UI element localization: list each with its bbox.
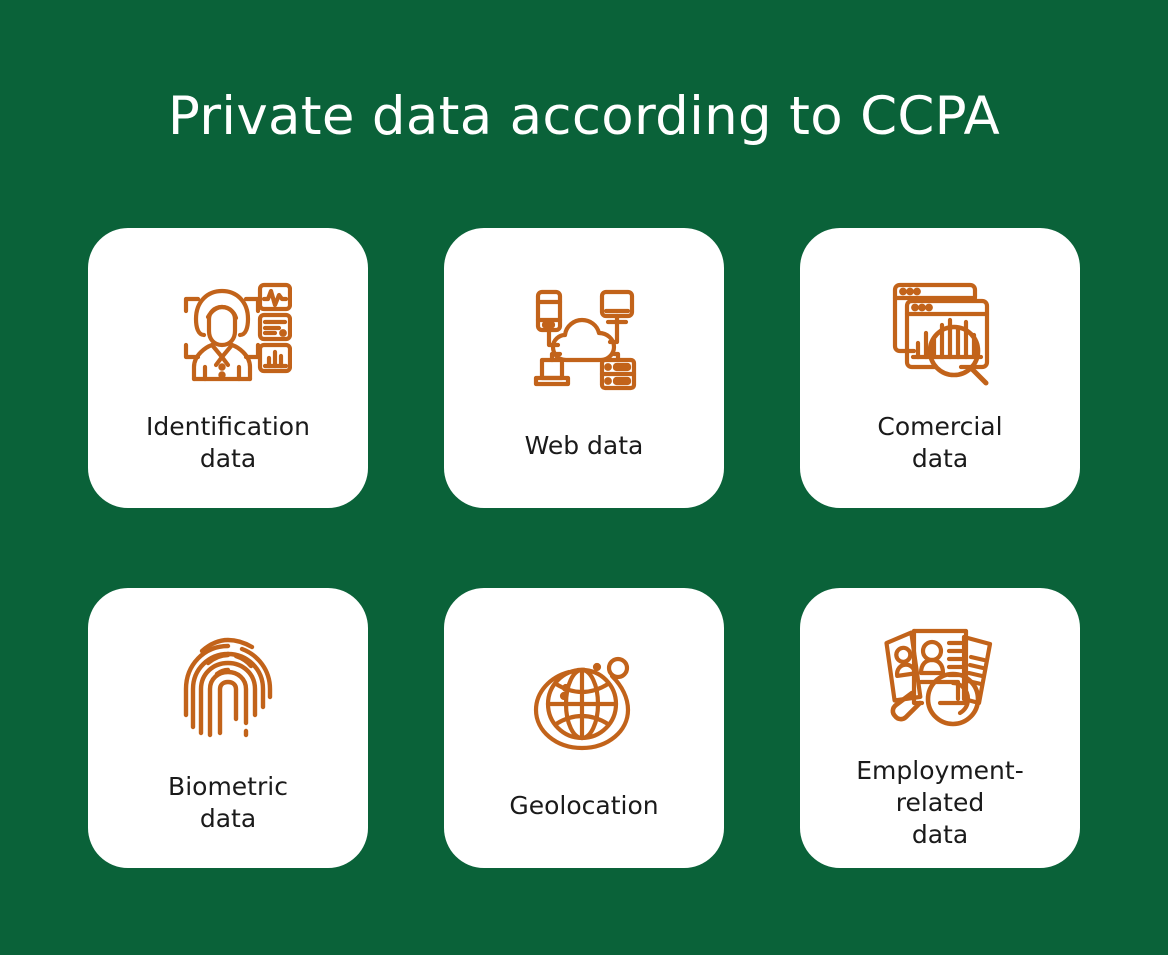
card-label: Web data: [525, 430, 644, 462]
resume-search-icon: [865, 601, 1015, 741]
fingerprint-icon: [153, 617, 303, 757]
card-employment-related-data[interactable]: Employment-related data: [800, 588, 1080, 868]
person-id-scan-icon: [153, 257, 303, 397]
card-label: Comercial data: [877, 411, 1002, 475]
card-geolocation[interactable]: Geolocation: [444, 588, 724, 868]
card-label: Biometric data: [168, 771, 288, 835]
page-title: Private data according to CCPA: [0, 88, 1168, 146]
card-comercial-data[interactable]: Comercial data: [800, 228, 1080, 508]
card-identification-data[interactable]: Identification data: [88, 228, 368, 508]
card-biometric-data[interactable]: Biometric data: [88, 588, 368, 868]
card-label: Employment-related data: [814, 755, 1066, 851]
card-label: Identification data: [146, 411, 310, 475]
cloud-network-icon: [509, 270, 659, 410]
infographic-canvas: Private data according to CCPA: [0, 0, 1168, 955]
card-grid: Identification data: [88, 228, 1080, 868]
globe-orbit-icon: [509, 630, 659, 770]
card-label: Geolocation: [509, 790, 658, 822]
browser-chart-search-icon: [865, 257, 1015, 397]
card-web-data[interactable]: Web data: [444, 228, 724, 508]
